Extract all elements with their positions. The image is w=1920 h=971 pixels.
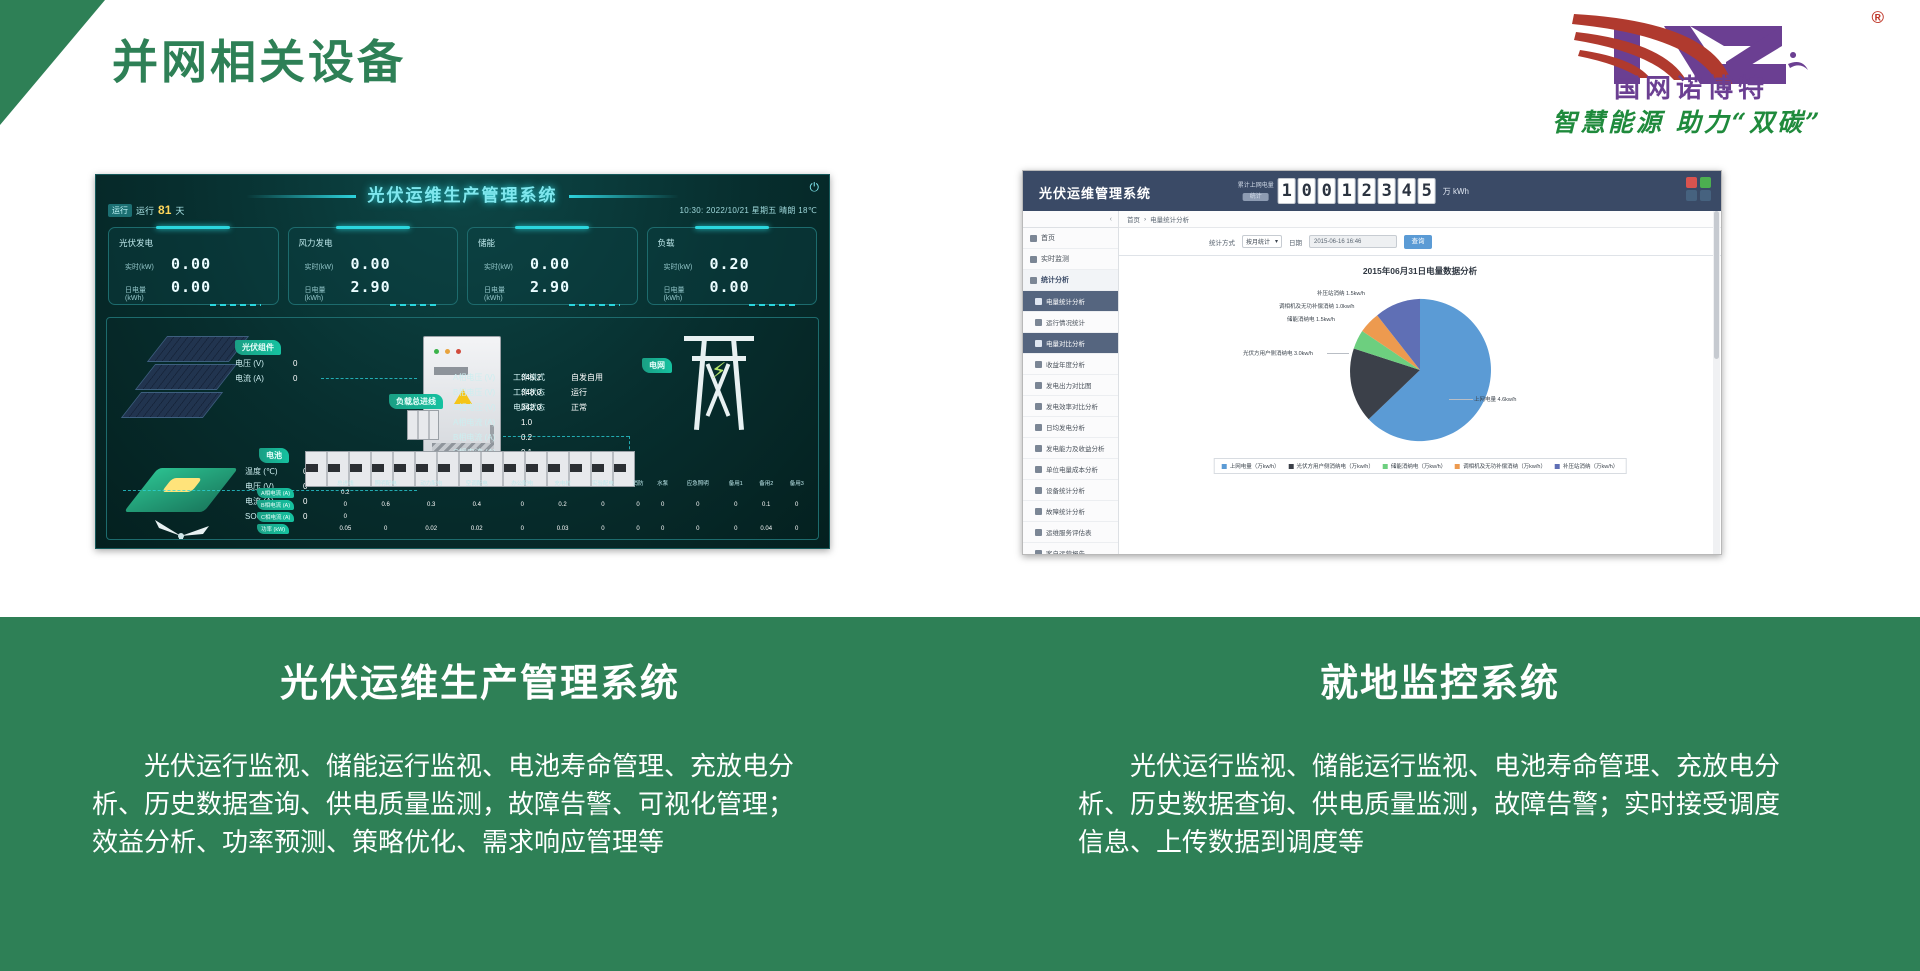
main-breaker-icon — [407, 410, 439, 440]
chevron-down-icon: ▾ — [1275, 238, 1278, 245]
cell: 0.2 — [545, 499, 580, 511]
sidebar-item-label: 运维服务评估表 — [1046, 527, 1092, 537]
work-state-value: 运行 — [571, 385, 587, 400]
kpi-label-daily: 日电量(kWh) — [484, 285, 522, 302]
sidebar-item-service-eval[interactable]: 运维服务评估表 — [1023, 522, 1118, 543]
distribution-table: 总进线 照明配电 动力配电 空调配电 办公配电 充电桩 实验配电 消防 水泵 应… — [257, 479, 812, 535]
legend-item: 补压站消纳（万kw/h） — [1555, 462, 1618, 470]
chart-icon — [1030, 277, 1037, 284]
cell — [500, 487, 546, 499]
kpi-label-daily: 日电量(kWh) — [664, 285, 702, 302]
webapp-body: ‹ 首页 实时监测 统计分析 电量统计分析 运行情况统计 电量对比分析 收益年度… — [1023, 211, 1721, 554]
battery-tag: 电池 — [259, 448, 289, 463]
sidebar-item-label: 客户运营报告 — [1046, 548, 1085, 554]
cell — [675, 487, 721, 499]
va-label: A相电压 (V) — [453, 370, 511, 385]
sidebar-item-label: 收益年度分析 — [1046, 359, 1085, 369]
row-label: 功率 (kW) — [257, 524, 289, 534]
kpi-title: 储能 — [478, 237, 495, 249]
grid-tag: 电网 — [642, 358, 672, 373]
cell: 0.05 — [328, 523, 363, 535]
counter-digits: 1 0 0 1 2 3 4 5 — [1278, 178, 1436, 204]
legend-label: 上网电量（万kw/h） — [1230, 462, 1280, 470]
row-label: A相电流 (A) — [257, 488, 294, 498]
row-label: C相电流 (A) — [257, 512, 294, 522]
webapp-topbar: 光伏运维管理系统 累计上网电量 统计 1 0 0 1 2 3 4 5 万 kWh — [1023, 171, 1721, 211]
pv-panel-icon — [121, 392, 223, 418]
led-red-icon — [456, 349, 461, 354]
bullet-icon — [1035, 298, 1042, 305]
cell: 0 — [675, 499, 721, 511]
cell: 0.04 — [751, 523, 781, 535]
pie-callout-reactive: 调相机及无功补偿消纳 1.0kw/h — [1279, 302, 1354, 310]
cell — [650, 511, 675, 523]
vc-value: 342.0 — [521, 400, 541, 415]
col-header: 备用2 — [751, 479, 781, 487]
cell: 0 — [328, 511, 363, 523]
lightning-bolt-icon: ⚡ — [711, 358, 726, 384]
bottom-green-band: 光伏运维生产管理系统 光伏运行监视、储能运行监视、电池寿命管理、充放电分析、历史… — [0, 617, 1920, 971]
webapp-root: 光伏运维管理系统 累计上网电量 统计 1 0 0 1 2 3 4 5 万 kWh — [1023, 171, 1721, 554]
page-title: 并网相关设备 — [112, 26, 406, 92]
cell: 0.6 — [363, 499, 409, 511]
cell: 0 — [721, 523, 751, 535]
top-left-corner-accent — [0, 0, 105, 125]
legend-label: 光伏方用户侧消纳电（万kw/h） — [1297, 462, 1374, 470]
dashboard-datetime-weather: 10:30: 2022/10/21 星期五 晴朗 18℃ — [680, 205, 817, 216]
screenshot-pv-operation-dashboard: 光伏运维生产管理系统 ⏻ 运行 运行 81 天 10:30: 2022/10/2… — [95, 174, 830, 549]
cell — [545, 511, 580, 523]
kpi-label-realtime: 实时(kW) — [664, 262, 702, 272]
kpi-card-row: 光伏发电 实时(kW)0.00 日电量(kWh)0.00 风力发电 实时(kW)… — [96, 223, 829, 305]
sidebar-item-label: 故障统计分析 — [1046, 506, 1085, 516]
cell: 0 — [781, 523, 812, 535]
legend-item: 储能消纳电（万kw/h） — [1383, 462, 1446, 470]
led-green-icon — [434, 349, 439, 354]
cell — [751, 511, 781, 523]
legend-item: 光伏方用户侧消纳电（万kw/h） — [1289, 462, 1374, 470]
cell: 0.02 — [454, 523, 500, 535]
sidebar-item-label: 单位电量成本分析 — [1046, 464, 1098, 474]
bullet-icon — [1035, 382, 1042, 389]
energy-counter: 累计上网电量 统计 1 0 0 1 2 3 4 5 万 kWh — [1238, 178, 1469, 204]
pie-chart-svg — [1341, 291, 1499, 449]
table-row: B相电流 (A) 0 0.6 0.3 0.4 0 0.2 0 0 0 0 0 — [257, 499, 812, 511]
stat-type-select[interactable]: 按月统计 ▾ — [1242, 235, 1282, 248]
cell — [721, 511, 751, 523]
kpi-label-realtime: 实时(kW) — [125, 262, 163, 272]
kpi-value-realtime: 0.00 — [530, 255, 570, 273]
main-content: 首页 › 电量统计分析 统计方式 按月统计 ▾ 日期 2015-06-16 16… — [1119, 211, 1721, 554]
kpi-label-daily: 日电量(kWh) — [305, 285, 343, 302]
alert-icon[interactable] — [1686, 177, 1697, 188]
run-days-value: 81 — [158, 203, 171, 217]
sidebar-item-label: 电量统计分析 — [1046, 296, 1085, 306]
col-header: 实验配电 — [580, 479, 626, 487]
date-label: 日期 — [1289, 237, 1302, 247]
kpi-card-load: 负载 实时(kW)0.20 日电量(kWh)0.00 — [647, 227, 818, 305]
breadcrumb-separator-icon: › — [1144, 216, 1146, 223]
pv-module-tag: 光伏组件 — [235, 340, 281, 355]
table-row: A相电流 (A) 0.2 — [257, 487, 812, 499]
sidebar-group-analysis[interactable]: 统计分析 — [1023, 270, 1118, 291]
pie-callout-pv-onsite: 光伏方用户侧消纳电 3.0kw/h — [1243, 349, 1313, 357]
bullet-icon — [1035, 319, 1042, 326]
cell — [626, 487, 651, 499]
legend-label: 调相机及无功补偿消纳（万kw/h） — [1463, 462, 1546, 470]
cell — [580, 511, 626, 523]
sidebar-item-label: 首页 — [1041, 233, 1055, 243]
band-heading-right: 就地监控系统 — [960, 652, 1920, 707]
cell — [363, 511, 409, 523]
bullet-icon — [1035, 550, 1042, 555]
pv-panel-icon — [147, 336, 249, 362]
col-header: 消防 — [626, 479, 651, 487]
link-pv-to-inverter — [321, 378, 417, 379]
mail-icon[interactable] — [1686, 190, 1697, 201]
sidebar-item-label: 运行情况统计 — [1046, 317, 1085, 327]
run-days-indicator: 运行 运行 81 天 — [108, 203, 184, 217]
run-label: 运行 — [136, 204, 154, 217]
scrollbar-thumb[interactable] — [1714, 211, 1719, 359]
cell: 0 — [580, 523, 626, 535]
dashboard-root: 光伏运维生产管理系统 ⏻ 运行 运行 81 天 10:30: 2022/10/2… — [95, 174, 830, 549]
sidebar-item-label: 设备统计分析 — [1046, 485, 1085, 495]
band-column-left: 光伏运维生产管理系统 光伏运行监视、储能运行监视、电池寿命管理、充放电分析、历史… — [0, 617, 960, 971]
col-header: 备用1 — [721, 479, 751, 487]
work-mode-value: 自发自用 — [571, 370, 603, 385]
counter-digit: 3 — [1378, 178, 1396, 204]
counter-digit: 0 — [1318, 178, 1336, 204]
sidebar-item-realtime[interactable]: 实时监测 — [1023, 249, 1118, 270]
sidebar-item-label: 发电出力对比图 — [1046, 380, 1092, 390]
vb-value: 348.0 — [521, 385, 541, 400]
cell — [650, 487, 675, 499]
cell — [363, 487, 409, 499]
cell: 0 — [626, 523, 651, 535]
counter-unit: 万 kWh — [1443, 186, 1469, 197]
cell — [721, 487, 751, 499]
counter-digit: 2 — [1358, 178, 1376, 204]
bullet-icon — [1035, 487, 1042, 494]
cell — [500, 511, 546, 523]
kpi-value-daily: 0.00 — [171, 278, 211, 296]
logo-tagline: 智慧能源 助力“双碳” — [1552, 103, 1822, 139]
pie-callout-booster: 补压站消纳 1.5kw/h — [1317, 289, 1365, 297]
home-icon — [1030, 235, 1037, 242]
legend-item: 上网电量（万kw/h） — [1222, 462, 1280, 470]
run-days-unit: 天 — [175, 204, 184, 217]
cell: 0.1 — [751, 499, 781, 511]
screenshot-pv-management-webapp: 光伏运维管理系统 累计上网电量 统计 1 0 0 1 2 3 4 5 万 kWh — [1022, 170, 1722, 555]
counter-digit: 4 — [1398, 178, 1416, 204]
counter-digit: 0 — [1298, 178, 1316, 204]
topbar-icon-group — [1686, 177, 1711, 201]
cell: 0 — [675, 523, 721, 535]
cell — [454, 487, 500, 499]
pv-current-label: 电流 (A) — [235, 371, 283, 386]
cell — [751, 487, 781, 499]
legend-label: 储能消纳电（万kw/h） — [1391, 462, 1446, 470]
sidebar-item-label: 发电能力及收益分析 — [1046, 443, 1105, 453]
transmission-tower-icon: ⚡ — [680, 322, 758, 434]
cell — [781, 487, 812, 499]
col-header: 充电桩 — [545, 479, 580, 487]
ib-label: B相电流 (A) — [453, 430, 511, 445]
kpi-title: 负载 — [658, 237, 675, 249]
breadcrumb-home[interactable]: 首页 — [1127, 214, 1140, 224]
sidebar-item-capacity-revenue[interactable]: 发电能力及收益分析 — [1023, 438, 1118, 459]
registered-trademark-icon: ® — [1871, 8, 1884, 28]
va-value: 345.2 — [521, 370, 541, 385]
cell — [580, 487, 626, 499]
sidebar: ‹ 首页 实时监测 统计分析 电量统计分析 运行情况统计 电量对比分析 收益年度… — [1023, 211, 1119, 554]
pie-callout-storage: 储能消纳电 1.5kw/h — [1287, 315, 1335, 323]
table-corner-cell — [257, 479, 328, 487]
run-badge: 运行 — [108, 204, 132, 217]
sidebar-item-unit-cost[interactable]: 单位电量成本分析 — [1023, 459, 1118, 480]
pie-leader-line — [1449, 399, 1473, 400]
cell: 0.03 — [545, 523, 580, 535]
breadcrumb: 首页 › 电量统计分析 — [1119, 211, 1721, 228]
led-amber-icon — [445, 349, 450, 354]
inverter-led-row — [434, 349, 461, 354]
distribution-table-element: 总进线 照明配电 动力配电 空调配电 办公配电 充电桩 实验配电 消防 水泵 应… — [257, 479, 812, 535]
ia-label: A相电流 (A) — [453, 415, 511, 430]
sidebar-item-label: 日均发电分析 — [1046, 422, 1085, 432]
cell: 0 — [626, 499, 651, 511]
cell: 0 — [363, 523, 409, 535]
cell — [454, 511, 500, 523]
sidebar-item-device-stats[interactable]: 设备统计分析 — [1023, 480, 1118, 501]
row-label: B相电流 (A) — [257, 500, 294, 510]
pie-chart: 上网电量 4.6kw/h 光伏方用户侧消纳电 3.0kw/h 储能消纳电 1.5… — [1119, 277, 1721, 482]
kpi-value-daily: 0.00 — [710, 278, 750, 296]
bullet-icon — [1035, 340, 1042, 347]
col-header: 备用3 — [781, 479, 812, 487]
dashboard-header: 光伏运维生产管理系统 ⏻ 运行 运行 81 天 10:30: 2022/10/2… — [96, 175, 829, 223]
legend-label: 补压站消纳（万kw/h） — [1563, 462, 1618, 470]
webapp-brand: 光伏运维管理系统 — [1039, 183, 1151, 202]
cell: 0 — [650, 499, 675, 511]
col-header: 动力配电 — [408, 479, 454, 487]
cell — [408, 511, 454, 523]
col-header: 办公配电 — [500, 479, 546, 487]
bullet-icon — [1035, 445, 1042, 452]
load-main-line-tag: 负载总进线 — [389, 394, 443, 409]
cell: 0.3 — [408, 499, 454, 511]
date-input[interactable]: 2015-06-16 16:46 — [1309, 235, 1397, 248]
kpi-value-daily: 2.90 — [530, 278, 570, 296]
chart-title: 2015年06月31日电量数据分析 — [1119, 265, 1721, 277]
kpi-title: 风力发电 — [299, 237, 333, 249]
sidebar-item-label: 统计分析 — [1041, 275, 1069, 285]
ib-value: 0.2 — [521, 430, 532, 445]
bullet-icon — [1035, 508, 1042, 515]
chart-legend: 上网电量（万kw/h） 光伏方用户侧消纳电（万kw/h） 储能消纳电（万kw/h… — [1214, 458, 1627, 474]
breadcrumb-current: 电量统计分析 — [1150, 214, 1189, 224]
kpi-value-realtime: 0.20 — [710, 255, 750, 273]
pv-current-value: 0 — [293, 371, 297, 386]
pv-panel-icon — [135, 364, 237, 390]
kpi-label-realtime: 实时(kW) — [484, 262, 522, 272]
vertical-scrollbar[interactable] — [1713, 211, 1720, 554]
power-icon[interactable]: ⏻ — [810, 180, 820, 195]
table-row: 功率 (kW) 0.05 0 0.02 0.02 0 0.03 0 0 0 0 … — [257, 523, 812, 535]
stat-type-label: 统计方式 — [1209, 237, 1235, 247]
bullet-icon — [1035, 466, 1042, 473]
sidebar-item-energy-compare[interactable]: 电量对比分析 — [1023, 333, 1118, 354]
battery-temp-label: 温度 (℃) — [245, 464, 293, 479]
bullet-icon — [1035, 361, 1042, 368]
sidebar-item-run-stats[interactable]: 运行情况统计 — [1023, 312, 1118, 333]
cell — [781, 511, 812, 523]
bullet-icon — [1035, 403, 1042, 410]
system-schematic: 光伏组件 电压 (V)0 电流 (A)0 电池 温度 (℃)0 电压 (V)0 … — [106, 317, 819, 540]
pie-leader-line — [1327, 353, 1349, 354]
counter-digit: 1 — [1278, 178, 1296, 204]
sidebar-item-home[interactable]: 首页 — [1023, 228, 1118, 249]
cell: 0.2 — [328, 487, 363, 499]
pv-module-readouts: 电压 (V)0 电流 (A)0 — [235, 356, 297, 386]
kpi-title: 光伏发电 — [119, 237, 153, 249]
table-row: C相电流 (A) 0 — [257, 511, 812, 523]
pv-voltage-value: 0 — [293, 356, 297, 371]
col-header: 总进线 — [328, 479, 363, 487]
band-heading-left: 光伏运维生产管理系统 — [0, 652, 960, 707]
cell: 0 — [500, 523, 546, 535]
stat-type-value: 按月统计 — [1246, 237, 1270, 246]
pie-callout-grid-export: 上网电量 4.6kw/h — [1474, 395, 1516, 403]
col-header: 应急照明 — [675, 479, 721, 487]
kpi-value-realtime: 0.00 — [171, 255, 211, 273]
monitor-icon — [1030, 256, 1037, 263]
filter-bar: 统计方式 按月统计 ▾ 日期 2015-06-16 16:46 查询 — [1119, 228, 1721, 256]
cell: 0 — [650, 523, 675, 535]
cell: 0.02 — [408, 523, 454, 535]
sidebar-item-yearly-revenue[interactable]: 收益年度分析 — [1023, 354, 1118, 375]
ia-value: 1.0 — [521, 415, 532, 430]
kpi-card-wind: 风力发电 实时(kW)0.00 日电量(kWh)2.90 — [288, 227, 459, 305]
message-icon[interactable] — [1700, 177, 1711, 188]
cell: 0.4 — [454, 499, 500, 511]
cell — [408, 487, 454, 499]
counter-digit: 1 — [1338, 178, 1356, 204]
kpi-value-realtime: 0.00 — [351, 255, 391, 273]
band-body-right: 光伏运行监视、储能运行监视、电池寿命管理、充放电分析、历史数据查询、供电质量监测… — [1078, 747, 1788, 861]
vb-label: B相电压 (V) — [453, 385, 511, 400]
kpi-card-storage: 储能 实时(kW)0.00 日电量(kWh)2.90 — [467, 227, 638, 305]
cell — [545, 487, 580, 499]
legend-item: 调相机及无功补偿消纳（万kw/h） — [1455, 462, 1546, 470]
cell — [675, 511, 721, 523]
query-button[interactable]: 查询 — [1404, 235, 1432, 249]
sidebar-collapse-button[interactable]: ‹ — [1023, 211, 1118, 228]
company-logo: ® 国网诺博特 智慧能源 助力“双碳” — [1514, 6, 1894, 132]
kpi-value-daily: 2.90 — [351, 278, 391, 296]
bullet-icon — [1035, 529, 1042, 536]
sidebar-item-label: 电量对比分析 — [1046, 338, 1085, 348]
col-header: 空调配电 — [454, 479, 500, 487]
sidebar-item-energy-analysis[interactable]: 电量统计分析 — [1023, 291, 1118, 312]
pv-voltage-label: 电压 (V) — [235, 356, 283, 371]
kpi-label-daily: 日电量(kWh) — [125, 285, 163, 302]
kpi-label-realtime: 实时(kW) — [305, 262, 343, 272]
kpi-card-pv: 光伏发电 实时(kW)0.00 日电量(kWh)0.00 — [108, 227, 279, 305]
cell — [626, 511, 651, 523]
wind-turbine-icon — [145, 518, 219, 540]
sidebar-item-label: 实时监测 — [1041, 254, 1069, 264]
user-icon[interactable] — [1700, 190, 1711, 201]
band-body-left: 光伏运行监视、储能运行监视、电池寿命管理、充放电分析、历史数据查询、供电质量监测… — [92, 747, 795, 861]
dashboard-title: 光伏运维生产管理系统 — [96, 181, 829, 206]
pv-panel-graphic — [131, 336, 251, 422]
sidebar-item-daily-average[interactable]: 日均发电分析 — [1023, 417, 1118, 438]
bullet-icon — [1035, 424, 1042, 431]
counter-digit: 5 — [1418, 178, 1436, 204]
table-header-row: 总进线 照明配电 动力配电 空调配电 办公配电 充电桩 实验配电 消防 水泵 应… — [257, 479, 812, 487]
counter-caption-line1: 累计上网电量 — [1238, 183, 1274, 189]
sidebar-item-efficiency-compare[interactable]: 发电效率对比分析 — [1023, 396, 1118, 417]
vc-label: C相电压 (V) — [453, 400, 511, 415]
col-header: 水泵 — [650, 479, 675, 487]
sidebar-item-fault-stats[interactable]: 故障统计分析 — [1023, 501, 1118, 522]
sidebar-item-output-compare[interactable]: 发电出力对比图 — [1023, 375, 1118, 396]
counter-caption-line2: 统计 — [1243, 193, 1269, 201]
sidebar-item-label: 发电效率对比分析 — [1046, 401, 1098, 411]
cell: 0 — [500, 499, 546, 511]
cell: 0 — [328, 499, 363, 511]
cell: 0 — [781, 499, 812, 511]
col-header: 照明配电 — [363, 479, 409, 487]
grid-state-value: 正常 — [571, 400, 587, 415]
band-column-right: 就地监控系统 光伏运行监视、储能运行监视、电池寿命管理、充放电分析、历史数据查询… — [960, 617, 1920, 971]
logo-company-name: 国网诺博特 — [1614, 68, 1769, 105]
counter-caption: 累计上网电量 统计 — [1238, 182, 1274, 201]
cell: 0 — [721, 499, 751, 511]
sidebar-item-customer-report[interactable]: 客户运营报告 — [1023, 543, 1118, 554]
cell: 0 — [580, 499, 626, 511]
